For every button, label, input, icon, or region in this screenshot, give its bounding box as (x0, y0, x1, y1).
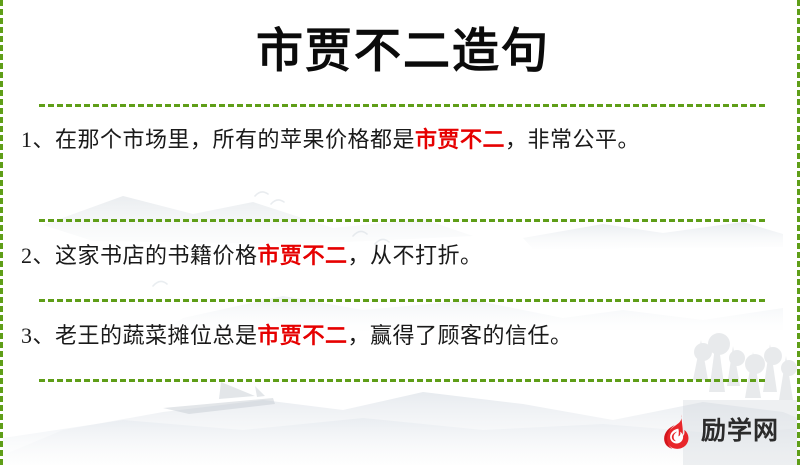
site-logo-text: 励学网 (701, 419, 779, 444)
sentence-text-after-3: ，赢得了顾客的信任。 (348, 323, 573, 348)
document-page: 市贾不二造句 1、在那个市场里，所有的苹果价格都是市贾不二，非常公平。 2、这家… (0, 0, 800, 465)
sentence-text-before-2: 这家书店的书籍价格 (55, 243, 258, 268)
title-block: 市贾不二造句 (3, 0, 800, 104)
sentence-item-2: 2、这家书店的书籍价格市贾不二，从不打折。 (3, 222, 800, 299)
idiom-highlight-3: 市贾不二 (258, 323, 348, 348)
page-title: 市贾不二造句 (256, 29, 550, 76)
sentence-text-before-1: 在那个市场里，所有的苹果价格都是 (55, 127, 415, 152)
sentence-item-3: 3、老王的蔬菜摊位总是市贾不二，赢得了顾客的信任。 (3, 302, 800, 379)
flame-swirl-icon (657, 412, 695, 450)
idiom-highlight-2: 市贾不二 (258, 243, 348, 268)
sentence-text-after-1: ，非常公平。 (505, 127, 640, 152)
sentence-index-3: 3、 (21, 323, 55, 348)
footer: 励学网 (3, 382, 800, 458)
sentence-text-after-2: ，从不打折。 (348, 243, 483, 268)
idiom-highlight-1: 市贾不二 (415, 127, 505, 152)
sentence-item-1: 1、在那个市场里，所有的苹果价格都是市贾不二，非常公平。 (3, 107, 800, 219)
sentence-index-2: 2、 (21, 243, 55, 268)
content-area: 市贾不二造句 1、在那个市场里，所有的苹果价格都是市贾不二，非常公平。 2、这家… (3, 0, 800, 465)
site-logo[interactable]: 励学网 (657, 412, 779, 450)
sentence-index-1: 1、 (21, 127, 55, 152)
sentence-text-before-3: 老王的蔬菜摊位总是 (55, 323, 258, 348)
